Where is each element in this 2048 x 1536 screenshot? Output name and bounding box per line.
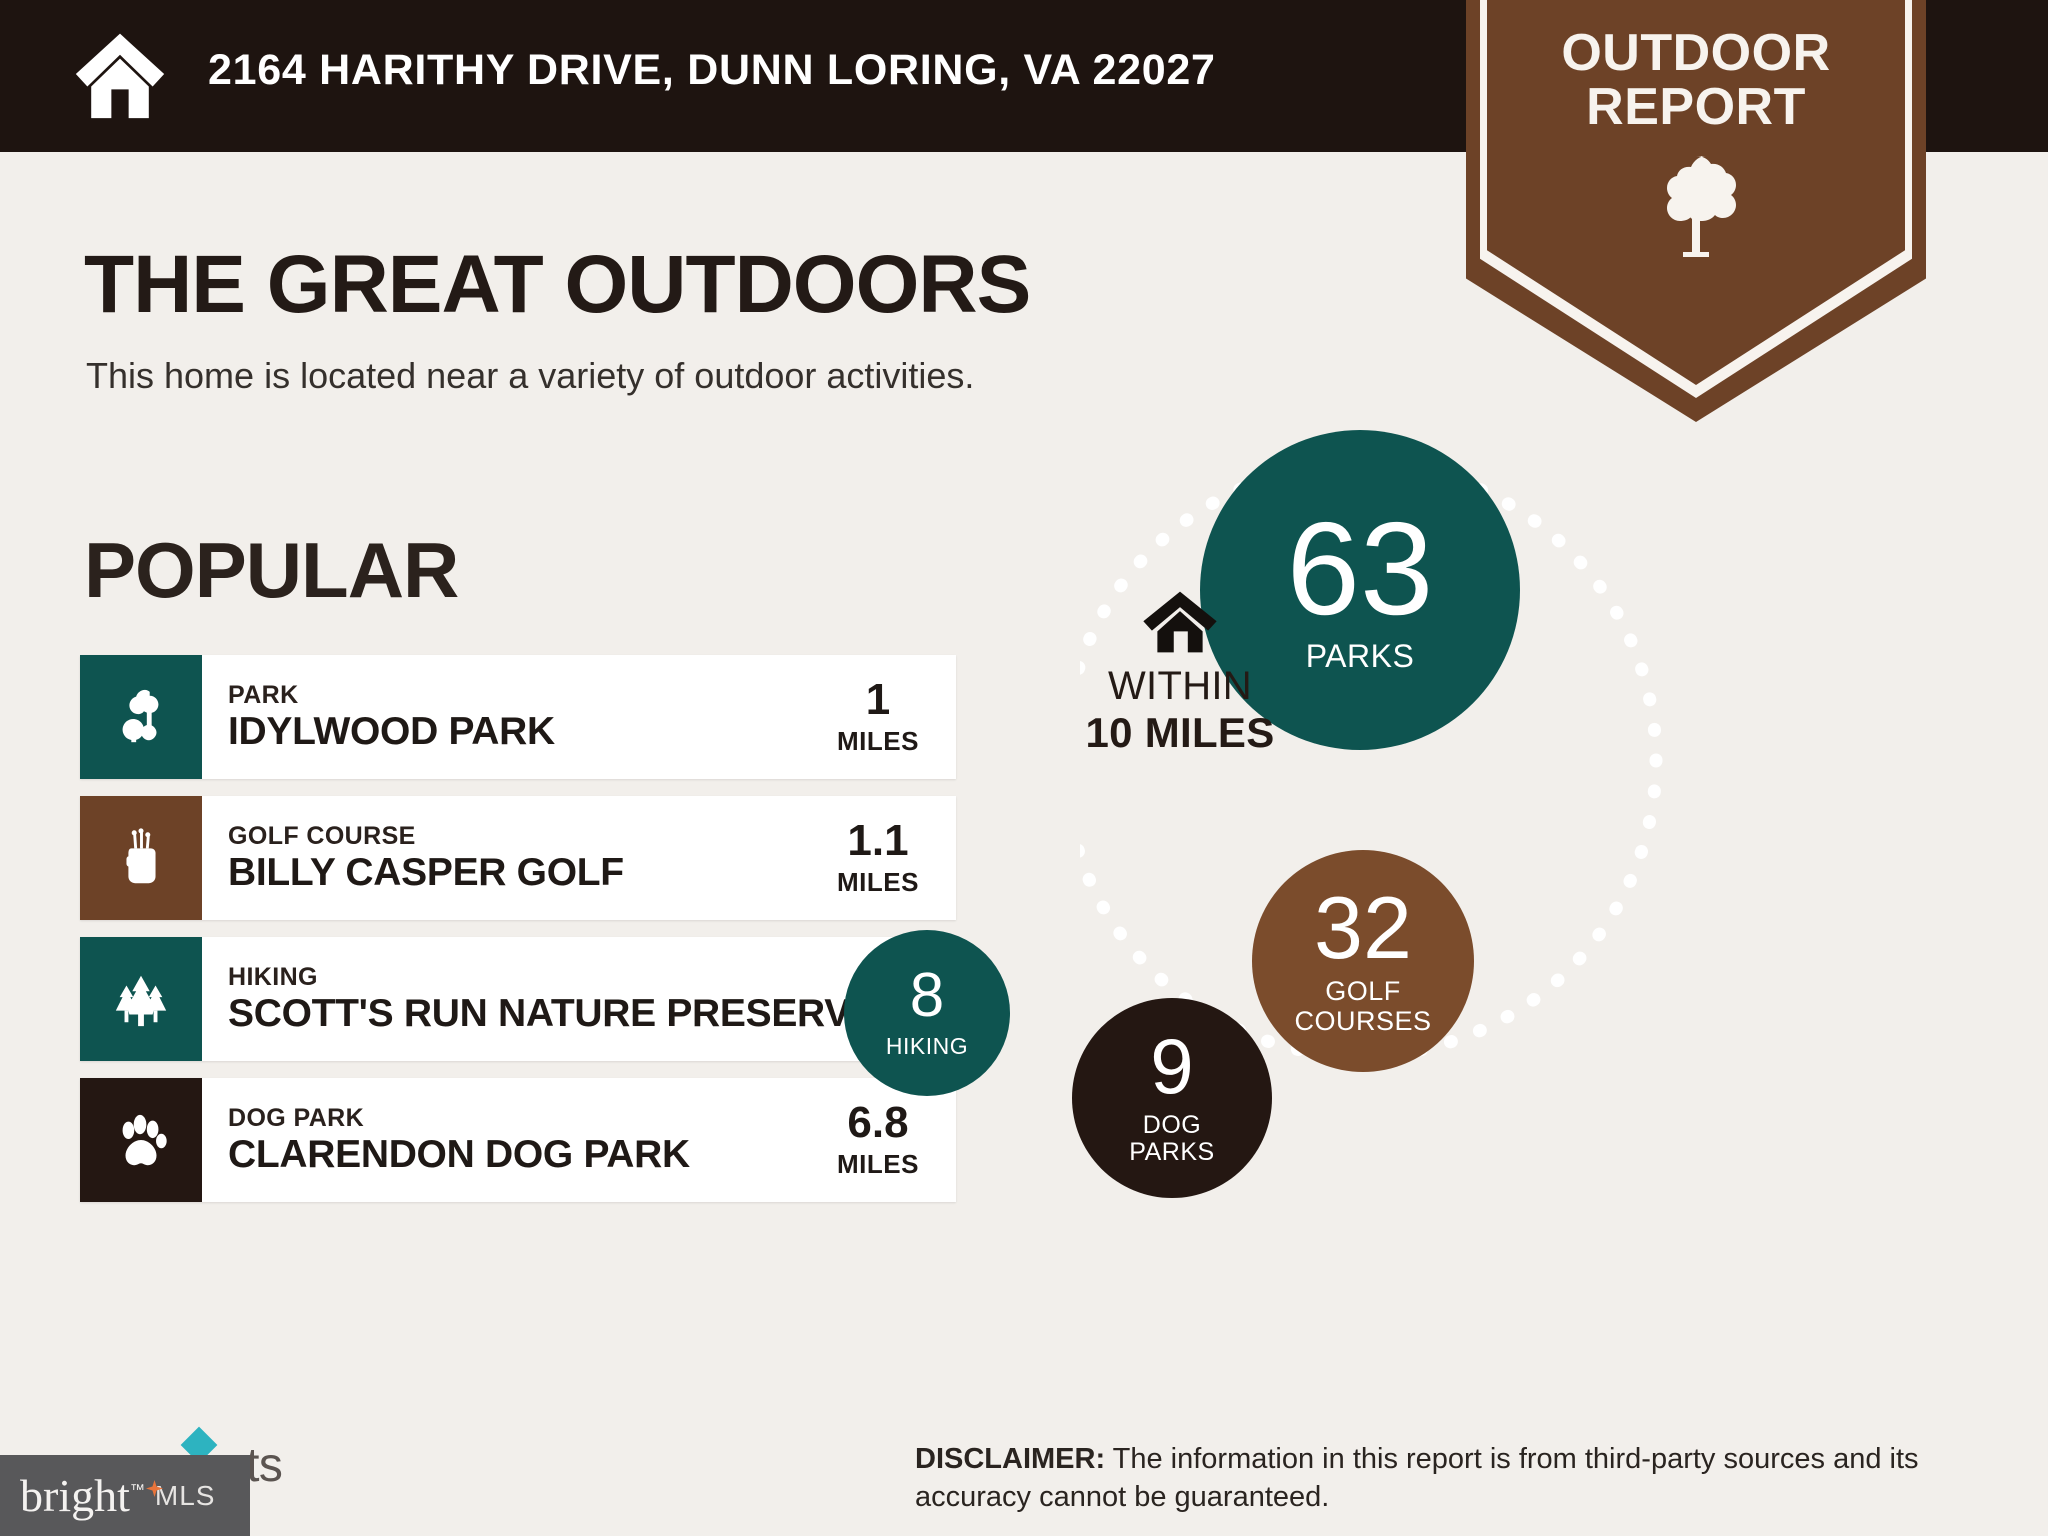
- page-title: THE GREAT OUTDOORS: [84, 238, 1030, 332]
- poi-distance-unit: MILES: [837, 867, 919, 898]
- within-10-miles-diagram: 63 PARKS 32 GOLF COURSES 9 DOG PARKS 8 H…: [1080, 430, 1960, 1290]
- poi-name: SCOTT'S RUN NATURE PRESERVE: [228, 992, 876, 1036]
- stat-label-line1: DOG: [1129, 1112, 1214, 1140]
- miles-label: 10 MILES: [1080, 709, 1280, 756]
- poi-category: HIKING: [228, 963, 876, 992]
- table-row[interactable]: HIKING SCOTT'S RUN NATURE PRESERVE 3.9 M…: [80, 937, 956, 1061]
- poi-name: CLARENDON DOG PARK: [228, 1133, 814, 1177]
- diagram-center-label: WITHIN 10 MILES: [1080, 590, 1280, 756]
- poi-text-block: DOG PARK CLARENDON DOG PARK: [202, 1078, 814, 1202]
- stat-value: 63: [1287, 506, 1434, 631]
- house-icon: [72, 26, 168, 122]
- poi-distance-unit: MILES: [837, 726, 919, 757]
- bright-mls-text: bright: [20, 1470, 130, 1521]
- within-label: WITHIN: [1080, 664, 1280, 709]
- poi-name: BILLY CASPER GOLF: [228, 851, 814, 895]
- table-row[interactable]: PARK IDYLWOOD PARK 1 MILES: [80, 655, 956, 779]
- disclaimer-label: DISCLAIMER:: [915, 1443, 1105, 1475]
- stat-label: DOG PARKS: [1129, 1112, 1214, 1167]
- poi-text-block: PARK IDYLWOOD PARK: [202, 655, 814, 779]
- poi-distance-value: 1.1: [847, 819, 908, 863]
- stat-label: HIKING: [886, 1034, 968, 1059]
- badge-title-line2: REPORT: [1466, 80, 1926, 134]
- stat-value: 32: [1314, 886, 1412, 970]
- stat-value: 8: [910, 967, 944, 1026]
- poi-category: DOG PARK: [228, 1104, 814, 1133]
- poi-distance: 6.8 MILES: [814, 1078, 956, 1202]
- poi-category: PARK: [228, 681, 814, 710]
- poi-text-block: HIKING SCOTT'S RUN NATURE PRESERVE: [202, 937, 876, 1061]
- disclaimer: DISCLAIMER: The information in this repo…: [915, 1440, 1985, 1517]
- table-row[interactable]: DOG PARK CLARENDON DOG PARK 6.8 MILES: [80, 1078, 956, 1202]
- park-trees-icon: [80, 655, 202, 779]
- stat-bubble-golf-courses[interactable]: 32 GOLF COURSES: [1252, 850, 1474, 1072]
- poi-distance: 1 MILES: [814, 655, 956, 779]
- stat-label-line2: PARKS: [1129, 1139, 1214, 1167]
- tree-icon: [1651, 152, 1741, 262]
- property-address: 2164 HARITHY DRIVE, DUNN LORING, VA 2202…: [208, 46, 1216, 95]
- page-subtitle: This home is located near a variety of o…: [86, 355, 974, 397]
- stat-value: 9: [1150, 1029, 1193, 1103]
- stat-label: GOLF COURSES: [1294, 977, 1431, 1036]
- poi-distance-unit: MILES: [837, 1149, 919, 1180]
- trademark-symbol: ™: [130, 1481, 145, 1498]
- paw-print-icon: [80, 1078, 202, 1202]
- pine-trees-icon: [80, 937, 202, 1061]
- table-row[interactable]: GOLF COURSE BILLY CASPER GOLF 1.1 MILES: [80, 796, 956, 920]
- bright-mls-suffix: MLS: [155, 1480, 216, 1512]
- poi-distance: 1.1 MILES: [814, 796, 956, 920]
- bright-mls-watermark: bright™ MLS: [0, 1455, 250, 1536]
- stat-label-line2: COURSES: [1294, 1007, 1431, 1037]
- golf-bag-icon: [80, 796, 202, 920]
- badge-title-line1: OUTDOOR: [1466, 26, 1926, 80]
- outdoor-report-page: 2164 HARITHY DRIVE, DUNN LORING, VA 2202…: [0, 0, 2048, 1536]
- badge-title: OUTDOOR REPORT: [1466, 26, 1926, 134]
- stat-bubble-hiking[interactable]: 8 HIKING: [844, 930, 1010, 1096]
- popular-poi-list: PARK IDYLWOOD PARK 1 MILES: [80, 655, 956, 1219]
- popular-heading: POPULAR: [84, 525, 458, 616]
- house-icon: [1141, 590, 1219, 654]
- stat-bubble-dog-parks[interactable]: 9 DOG PARKS: [1072, 998, 1272, 1198]
- poi-category: GOLF COURSE: [228, 822, 814, 851]
- stat-label-line1: GOLF: [1294, 977, 1431, 1007]
- poi-distance-value: 1: [866, 678, 890, 722]
- bright-mls-wordmark: bright™: [20, 1473, 145, 1519]
- poi-text-block: GOLF COURSE BILLY CASPER GOLF: [202, 796, 814, 920]
- poi-name: IDYLWOOD PARK: [228, 710, 814, 754]
- poi-distance-value: 6.8: [847, 1101, 908, 1145]
- stat-label: PARKS: [1306, 639, 1415, 674]
